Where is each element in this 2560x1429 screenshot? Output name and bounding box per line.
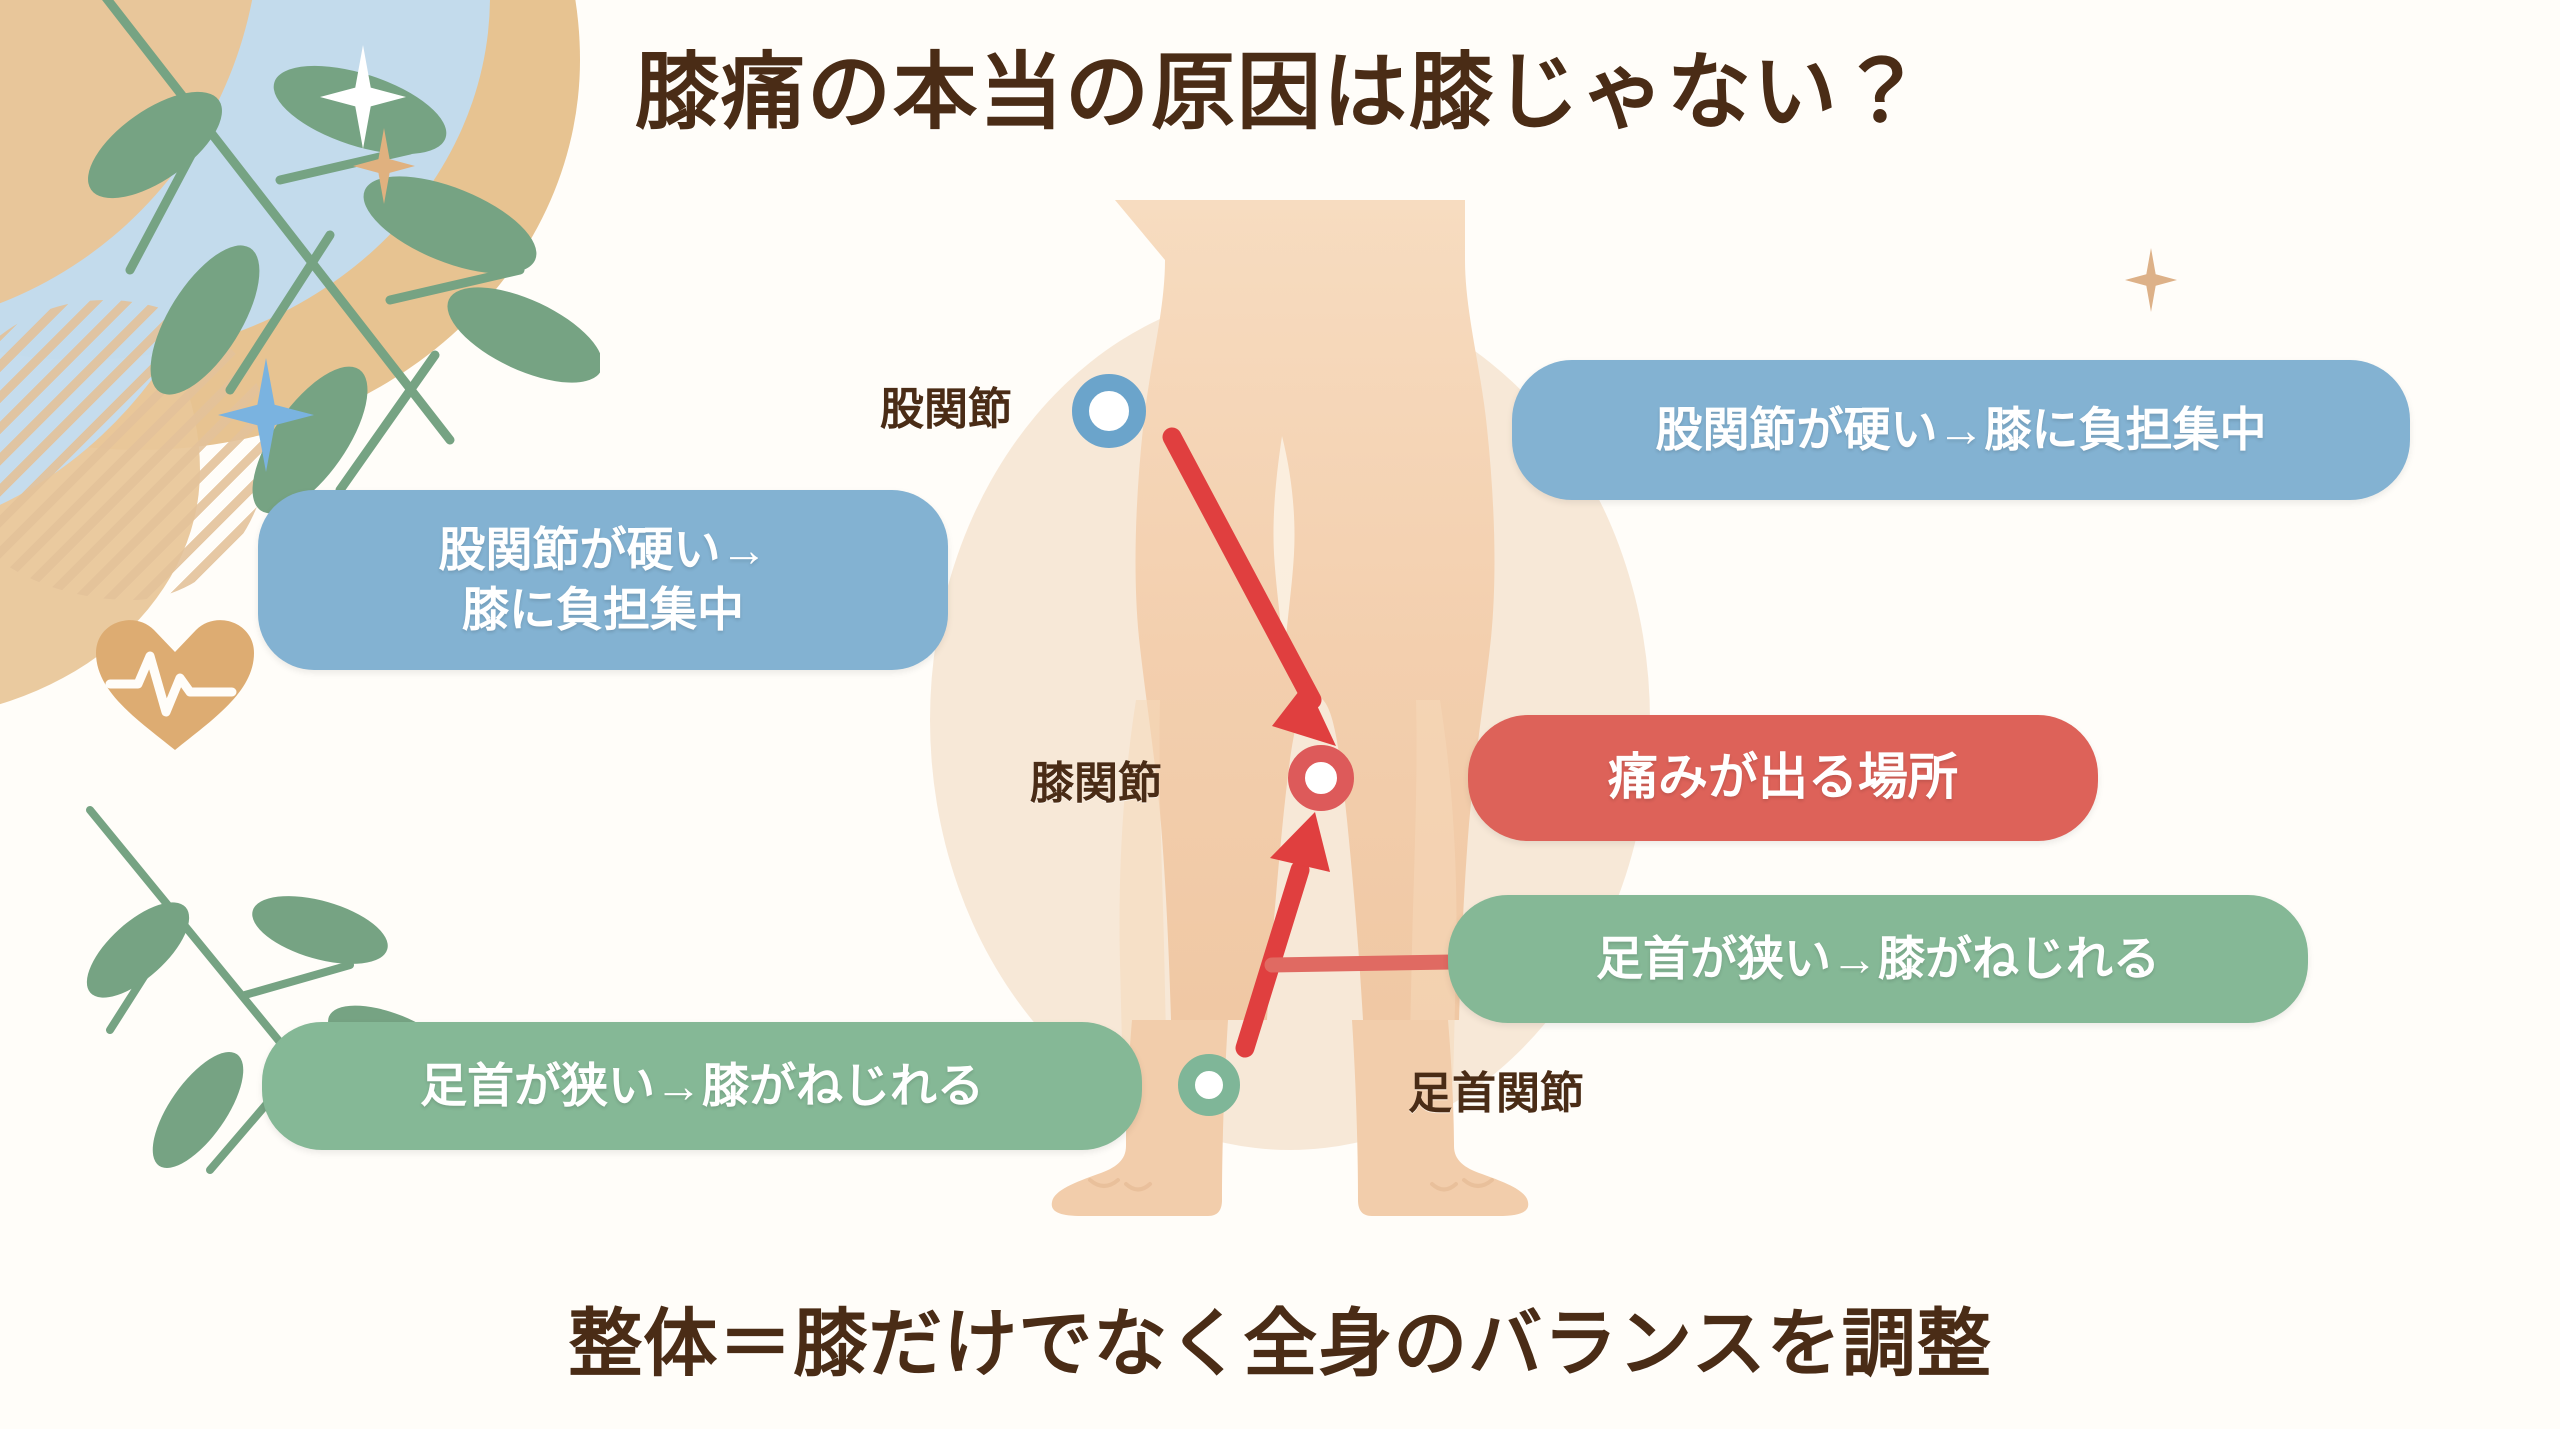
callout-hip-right[interactable]: 股関節が硬い→膝に負担集中 — [1512, 360, 2410, 500]
joint-marker-knee[interactable] — [1288, 745, 1354, 811]
callout-hip-left-line2: 膝に負担集中 — [439, 580, 768, 640]
callout-hip-left[interactable]: 股関節が硬い→ 膝に負担集中 — [258, 490, 948, 670]
callout-ankle-left[interactable]: 足首が狭い→膝がねじれる — [262, 1022, 1142, 1150]
callout-ankle-right[interactable]: 足首が狭い→膝がねじれる — [1448, 895, 2308, 1023]
joint-label-ankle: 足首関節 — [1408, 1072, 1584, 1116]
footer-caption: 整体＝膝だけでなく全身のバランスを調整 — [0, 1307, 2560, 1381]
arrow-ankle-to-knee — [1245, 812, 1330, 1048]
arrow-layer — [0, 0, 2560, 1429]
joint-marker-hip[interactable] — [1072, 374, 1146, 448]
arrow-ankle-pill-connector — [1272, 962, 1452, 965]
joint-label-knee: 膝関節 — [1030, 762, 1162, 806]
joint-marker-ankle[interactable] — [1178, 1054, 1240, 1116]
infographic-canvas: 膝痛の本当の原因は膝じゃない？ — [0, 0, 2560, 1429]
callout-hip-left-line1: 股関節が硬い→ — [439, 520, 768, 580]
callout-pain-spot[interactable]: 痛みが出る場所 — [1468, 715, 2098, 841]
joint-label-hip: 股関節 — [880, 388, 1012, 432]
arrow-hip-to-knee — [1172, 437, 1336, 746]
